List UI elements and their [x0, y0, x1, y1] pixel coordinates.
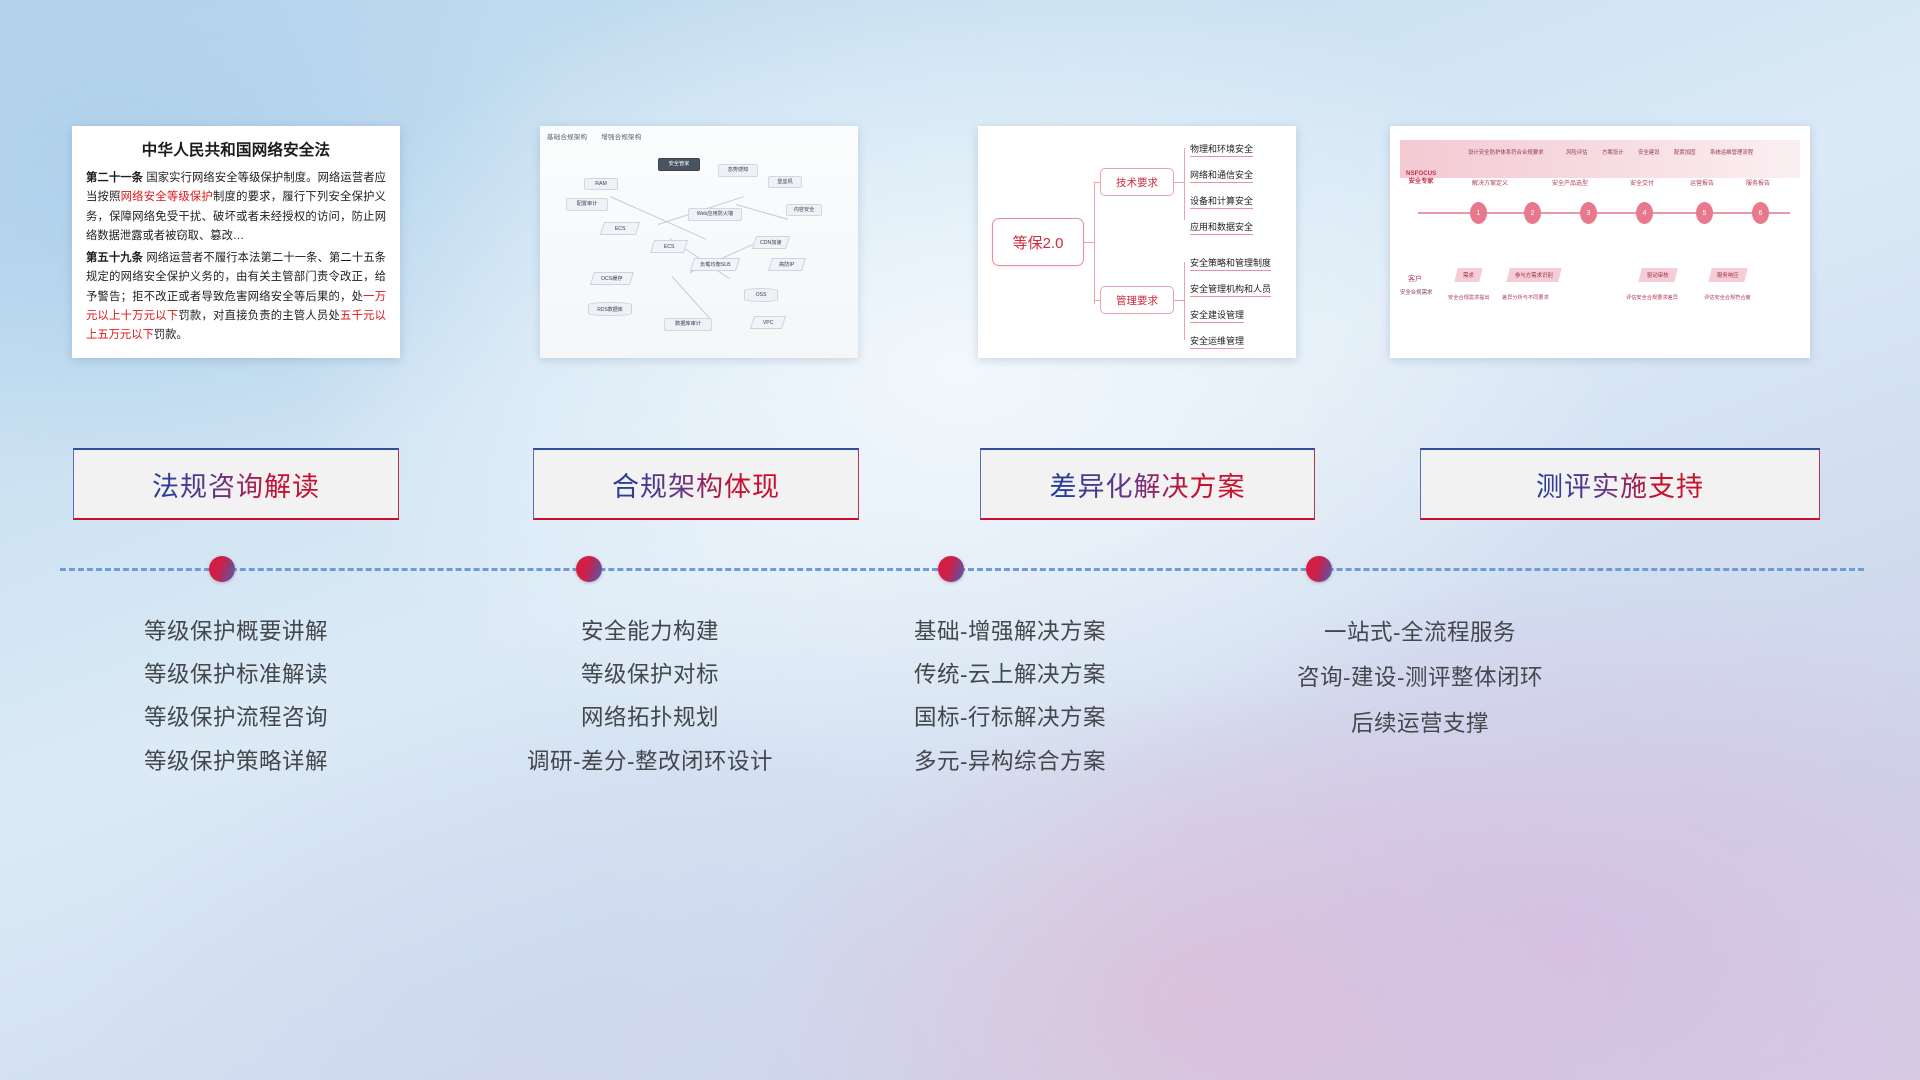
arch-head-left: 基础合规架构 [547, 134, 587, 141]
arch-node: 配置审计 [566, 198, 608, 211]
arch-node: RAM [584, 178, 618, 190]
list-item: 一站式-全流程服务 [1160, 610, 1680, 655]
roadmap-tag: 参与方需求识别 [1506, 268, 1561, 282]
architecture-diagram: 基础合规架构 增强合规架构 安全管家 RAM 配置审计 态势感知 堡垒机 内容安… [540, 126, 858, 358]
list-item: 后续运营支撑 [1160, 701, 1680, 746]
arch-node: 数据库审计 [664, 318, 712, 331]
mindmap-leaf: 网络和通信安全 [1190, 168, 1253, 183]
arch-node: RDS数据库 [588, 302, 632, 316]
roadmap-brand-line1: NSFOCUS [1406, 170, 1436, 178]
roadmap-diagram: 设计安全防护体系符合合规要求 风险评估 方案设计 安全建设 配置加固 系统运维管… [1390, 126, 1810, 358]
arch-node: 负载均衡SLB [690, 258, 740, 271]
arch-connector [736, 204, 788, 220]
article-21-label: 第二十一条 [86, 172, 143, 184]
law-card-body: 中华人民共和国网络安全法 第二十一条 国家实行网络安全等级保护制度。网络运营者应… [72, 126, 400, 358]
arch-node: 堡垒机 [768, 176, 802, 188]
list-item: 调研-差分-整改闭环设计 [440, 740, 860, 783]
roadmap-brand-line2: 安全专家 [1406, 178, 1436, 186]
arch-node: CDN加速 [752, 236, 790, 249]
mindmap-leaf: 安全管理机构和人员 [1190, 282, 1271, 297]
label-box-regulation-consulting[interactable]: 法规咨询解读 [73, 448, 399, 520]
mindmap-leaf: 物理和环境安全 [1190, 142, 1253, 157]
article-59-label: 第五十九条 [86, 252, 143, 264]
roadmap-node: 5 [1696, 202, 1713, 224]
list-item: 等级保护对标 [440, 653, 860, 696]
label-boxes-row: 法规咨询解读 合规架构体现 差异化解决方案 测评实施支持 [0, 448, 1920, 520]
mindmap-leaf: 应用和数据安全 [1190, 220, 1253, 235]
label-text: 合规架构体现 [612, 465, 780, 504]
law-article-59: 第五十九条 网络运营者不履行本法第二十一条、第二十五条规定的网络安全保护义务的，… [86, 249, 386, 346]
arch-node: 态势感知 [718, 164, 758, 177]
mindmap-leaf: 安全运维管理 [1190, 334, 1244, 349]
mindmap-branch-management: 管理要求 [1100, 286, 1174, 314]
arch-node: 安全管家 [658, 158, 700, 171]
arch-node: Web应用防火墙 [688, 208, 742, 221]
roadmap-brand: NSFOCUS 安全专家 [1406, 170, 1436, 186]
roadmap-node: 1 [1470, 202, 1487, 224]
list-item: 安全能力构建 [440, 610, 860, 653]
roadmap-bottom-sub: 差异分析与不同要求 [1502, 294, 1549, 301]
label-box-differentiated-solution[interactable]: 差异化解决方案 [980, 448, 1315, 520]
mindmap-edge [1174, 300, 1184, 301]
card-compliance-architecture[interactable]: 基础合规架构 增强合规架构 安全管家 RAM 配置审计 态势感知 堡垒机 内容安… [540, 126, 858, 358]
article-21-highlight: 网络安全等级保护 [121, 191, 213, 203]
arch-node: OSS [744, 288, 778, 302]
roadmap-tag: 服务响应 [1708, 268, 1747, 282]
list-item: 等级保护流程咨询 [73, 696, 399, 739]
label-box-evaluation-support[interactable]: 测评实施支持 [1420, 448, 1820, 520]
mindmap-edge [1184, 262, 1185, 340]
roadmap-bottom-sub: 评估安全合规符合度 [1704, 294, 1751, 301]
arch-head-right: 增强合规架构 [601, 134, 641, 141]
arch-node: ECS [650, 240, 688, 253]
list-item: 多元-异构综合方案 [800, 740, 1220, 783]
roadmap-node: 2 [1524, 202, 1541, 224]
label-text: 法规咨询解读 [152, 465, 320, 504]
detail-column-3: 基础-增强解决方案 传统-云上解决方案 国标-行标解决方案 多元-异构综合方案 [800, 610, 1220, 783]
arch-node: ECS [600, 222, 640, 235]
article-59-text-c: 罚款。 [154, 329, 188, 341]
label-box-compliance-architecture[interactable]: 合规架构体现 [533, 448, 859, 520]
roadmap-customer-label: 客户 [1408, 274, 1422, 284]
roadmap-stage-label: 服务报告 [1746, 178, 1770, 187]
roadmap-customer-sub: 安全合规需求 [1400, 288, 1432, 296]
list-item: 咨询-建设-测评整体闭环 [1160, 655, 1680, 700]
arch-node: 内容安全 [786, 204, 822, 216]
roadmap-bottom-sub: 评估安全合规要求差异 [1626, 294, 1678, 301]
arch-node: OCS缓存 [590, 272, 634, 285]
card-dengbao-mindmap[interactable]: 等保2.0 技术要求 管理要求 物理和环境安全 网络和通信安全 设备和计算安全 … [978, 126, 1296, 358]
mindmap-edge [1174, 182, 1184, 183]
mindmap-leaf: 安全策略和管理制度 [1190, 256, 1271, 271]
roadmap-top-label: 方案设计 [1602, 148, 1624, 156]
image-cards-row: 中华人民共和国网络安全法 第二十一条 国家实行网络安全等级保护制度。网络运营者应… [0, 126, 1920, 358]
roadmap-stage-label: 运营报告 [1690, 178, 1714, 187]
roadmap-node: 4 [1636, 202, 1653, 224]
list-item: 国标-行标解决方案 [800, 696, 1220, 739]
slide-canvas: 中华人民共和国网络安全法 第二十一条 国家实行网络安全等级保护制度。网络运营者应… [0, 0, 1920, 1080]
list-item: 基础-增强解决方案 [800, 610, 1220, 653]
arch-node: 高防IP [768, 258, 806, 271]
timeline-dot-4[interactable] [1306, 556, 1332, 582]
arch-connector [672, 276, 713, 321]
law-article-21: 第二十一条 国家实行网络安全等级保护制度。网络运营者应当按照网络安全等级保护制度… [86, 169, 386, 247]
law-title: 中华人民共和国网络安全法 [86, 138, 386, 160]
mindmap-edge [1084, 242, 1094, 243]
mindmap-root: 等保2.0 [992, 218, 1084, 266]
roadmap-tag: 需求 [1454, 268, 1482, 282]
roadmap-bottom-sub: 安全合规需求提出 [1448, 294, 1490, 301]
mindmap-leaf: 安全建设管理 [1190, 308, 1244, 323]
mindmap-branch-technical: 技术要求 [1100, 168, 1174, 196]
roadmap-node: 3 [1580, 202, 1597, 224]
mindmap-edge [1094, 182, 1095, 304]
article-59-text-b: 罚款，对直接负责的主管人员处 [178, 310, 340, 322]
list-item: 等级保护概要讲解 [73, 610, 399, 653]
list-item: 等级保护标准解读 [73, 653, 399, 696]
roadmap-stage-label: 安全产品选型 [1552, 178, 1588, 187]
label-text: 差异化解决方案 [1050, 465, 1246, 504]
roadmap-node: 6 [1752, 202, 1769, 224]
list-item: 等级保护策略详解 [73, 740, 399, 783]
roadmap-top-label: 设计安全防护体系符合合规要求 [1468, 148, 1543, 156]
arch-node: VPC [750, 316, 786, 329]
timeline-dot-1[interactable] [209, 556, 235, 582]
list-item: 传统-云上解决方案 [800, 653, 1220, 696]
card-cybersecurity-law[interactable]: 中华人民共和国网络安全法 第二十一条 国家实行网络安全等级保护制度。网络运营者应… [72, 126, 400, 358]
detail-column-2: 安全能力构建 等级保护对标 网络拓扑规划 调研-差分-整改闭环设计 [440, 610, 860, 783]
label-text: 测评实施支持 [1536, 465, 1704, 504]
detail-column-4: 一站式-全流程服务 咨询-建设-测评整体闭环 后续运营支撑 [1160, 610, 1680, 746]
roadmap-top-label: 安全建设 [1638, 148, 1660, 156]
roadmap-top-label: 系统运维管理流程 [1710, 148, 1753, 156]
architecture-headings: 基础合规架构 增强合规架构 [547, 131, 653, 141]
card-nsfocus-roadmap[interactable]: 设计安全防护体系符合合规要求 风险评估 方案设计 安全建设 配置加固 系统运维管… [1390, 126, 1810, 358]
roadmap-tag: 驱动审核 [1638, 268, 1677, 282]
list-item: 网络拓扑规划 [440, 696, 860, 739]
mindmap-leaf: 设备和计算安全 [1190, 194, 1253, 209]
roadmap-stage-label: 解决方案定义 [1472, 178, 1508, 187]
roadmap-top-label: 配置加固 [1674, 148, 1696, 156]
timeline-dot-2[interactable] [576, 556, 602, 582]
roadmap-stage-label: 安全交付 [1630, 178, 1654, 187]
roadmap-top-label: 风险评估 [1566, 148, 1588, 156]
roadmap-top-band [1400, 140, 1800, 178]
timeline-dot-3[interactable] [938, 556, 964, 582]
mindmap: 等保2.0 技术要求 管理要求 物理和环境安全 网络和通信安全 设备和计算安全 … [978, 126, 1296, 358]
mindmap-edge [1184, 148, 1185, 220]
detail-column-1: 等级保护概要讲解 等级保护标准解读 等级保护流程咨询 等级保护策略详解 [73, 610, 399, 783]
